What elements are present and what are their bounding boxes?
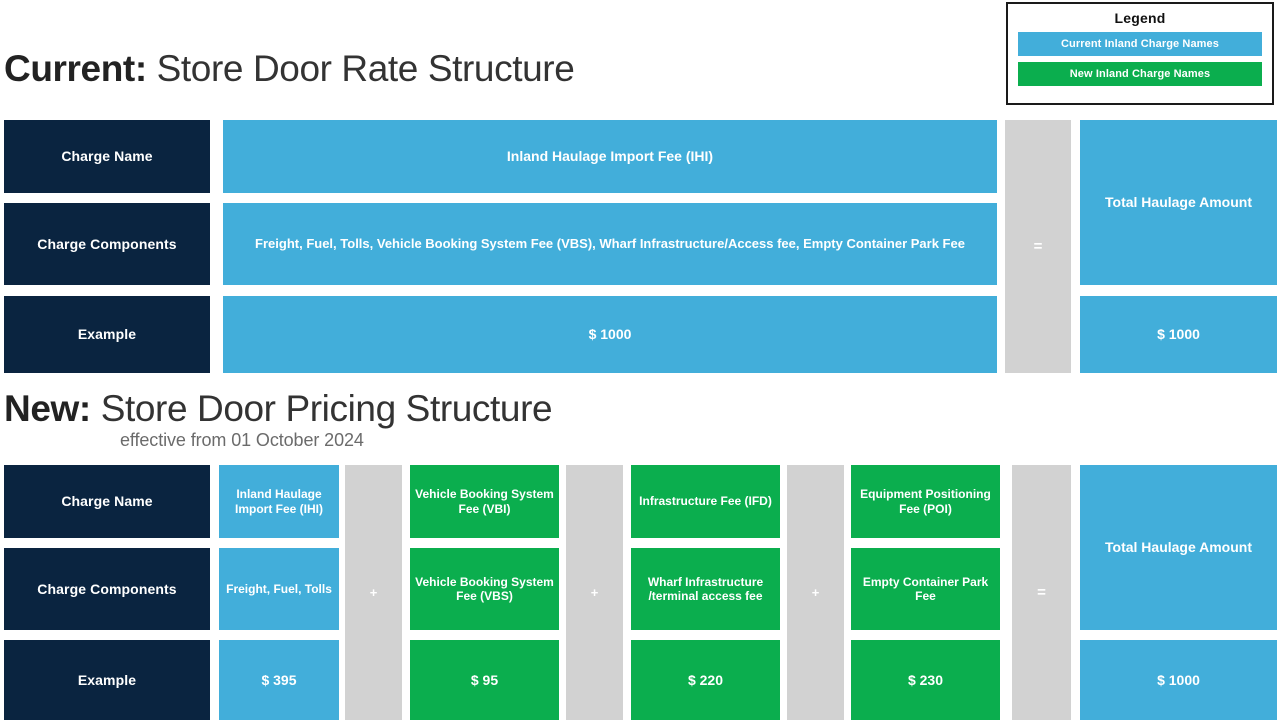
new-col-poi-charge-name: Equipment Positioning Fee (POI)	[851, 465, 1000, 538]
new-section-heading: New: Store Door Pricing Structure	[4, 388, 552, 430]
legend-item-current: Current Inland Charge Names	[1018, 32, 1262, 56]
new-col-ifd-charge-name: Infrastructure Fee (IFD)	[631, 465, 780, 538]
current-equals-operator: =	[1005, 120, 1071, 373]
new-col-vbi-example: $ 95	[410, 640, 559, 720]
new-col-poi-charge-components: Empty Container Park Fee	[851, 548, 1000, 630]
current-heading-strong: Current:	[4, 48, 147, 89]
new-total-haulage-title: Total Haulage Amount	[1080, 465, 1277, 630]
current-section-heading: Current: Store Door Rate Structure	[4, 48, 574, 90]
current-row-label-charge-components: Charge Components	[4, 203, 210, 285]
new-col-vbi-charge-name: Vehicle Booking System Fee (VBI)	[410, 465, 559, 538]
new-col-poi-example: $ 230	[851, 640, 1000, 720]
legend-item-new: New Inland Charge Names	[1018, 62, 1262, 86]
new-total-haulage-example: $ 1000	[1080, 640, 1277, 720]
new-equals-operator: =	[1012, 465, 1071, 720]
new-plus-operator-2: +	[566, 465, 623, 720]
new-row-label-charge-name: Charge Name	[4, 465, 210, 538]
new-row-label-example: Example	[4, 640, 210, 720]
current-charge-name-value: Inland Haulage Import Fee (IHI)	[223, 120, 997, 193]
current-heading-rest: Store Door Rate Structure	[147, 48, 575, 89]
current-example-value: $ 1000	[223, 296, 997, 373]
new-plus-operator-3: +	[787, 465, 844, 720]
new-col-ifd-charge-components: Wharf Infrastructure /terminal access fe…	[631, 548, 780, 630]
new-section-subheading: effective from 01 October 2024	[120, 430, 364, 451]
new-row-label-charge-components: Charge Components	[4, 548, 210, 630]
new-heading-rest: Store Door Pricing Structure	[91, 388, 552, 429]
new-col-ihi-charge-components: Freight, Fuel, Tolls	[219, 548, 339, 630]
current-total-haulage-example: $ 1000	[1080, 296, 1277, 373]
new-col-ifd-example: $ 220	[631, 640, 780, 720]
new-col-ihi-example: $ 395	[219, 640, 339, 720]
new-heading-strong: New:	[4, 388, 91, 429]
current-row-label-example: Example	[4, 296, 210, 373]
current-row-label-charge-name: Charge Name	[4, 120, 210, 193]
new-col-vbi-charge-components: Vehicle Booking System Fee (VBS)	[410, 548, 559, 630]
legend-title: Legend	[1018, 8, 1262, 28]
current-charge-components-value: Freight, Fuel, Tolls, Vehicle Booking Sy…	[223, 203, 997, 285]
current-total-haulage-title: Total Haulage Amount	[1080, 120, 1277, 285]
slide-canvas: Legend Current Inland Charge Names New I…	[0, 0, 1280, 720]
new-col-ihi-charge-name: Inland Haulage Import Fee (IHI)	[219, 465, 339, 538]
legend-box: Legend Current Inland Charge Names New I…	[1006, 2, 1274, 105]
new-plus-operator-1: +	[345, 465, 402, 720]
